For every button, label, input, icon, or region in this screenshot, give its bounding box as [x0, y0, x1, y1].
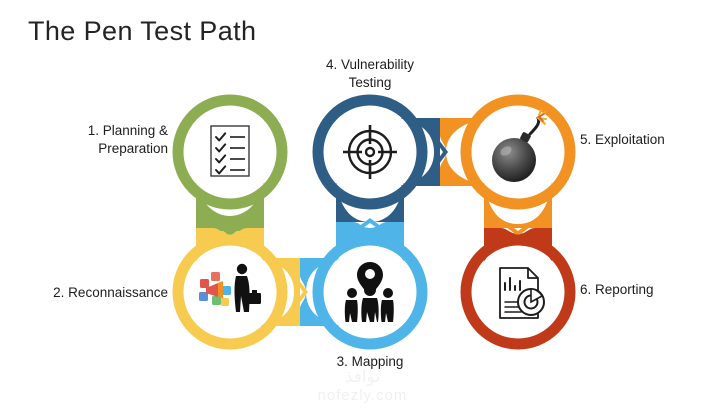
node-1-label: 1. Planning & Preparation	[28, 122, 168, 158]
node-2-label: 2. Reconnaissance	[8, 284, 168, 302]
node-5-label: 5. Exploitation	[580, 131, 725, 149]
watermark: نوافذ nofezly.com	[0, 367, 725, 404]
node-6-reporting[interactable]	[466, 240, 570, 344]
watermark-arabic: نوافذ	[0, 367, 725, 387]
node-5-exploitation[interactable]	[466, 100, 570, 204]
node-2-reconnaissance[interactable]	[178, 240, 282, 344]
node-4-label: 4. Vulnerability Testing	[300, 56, 440, 92]
checklist-icon	[211, 126, 249, 176]
watermark-domain: nofezly.com	[318, 387, 408, 404]
node-6-label: 6. Reporting	[580, 281, 725, 299]
node-4-vulnerability-testing[interactable]	[318, 100, 422, 204]
node-1-planning-preparation[interactable]	[178, 100, 282, 204]
node-3-mapping[interactable]	[318, 240, 422, 344]
